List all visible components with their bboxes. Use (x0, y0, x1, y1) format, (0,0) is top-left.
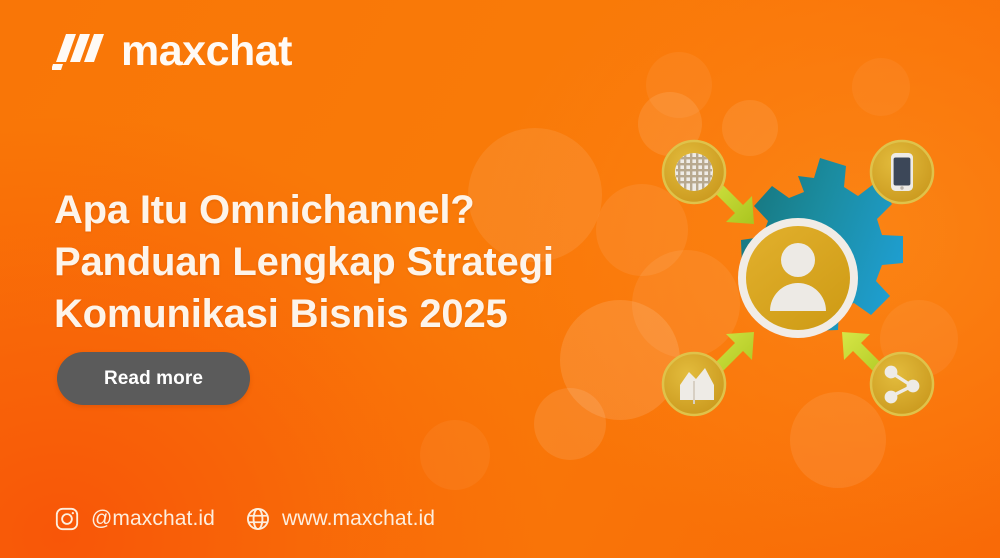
brand-logo[interactable]: maxchat (52, 28, 292, 74)
smartphone-icon (871, 141, 933, 203)
headline-line-3: Komunikasi Bisnis 2025 (54, 288, 614, 340)
website-url: www.maxchat.id (282, 507, 435, 531)
maxchat-m-mark-icon (52, 28, 112, 74)
bokeh-circle (420, 420, 490, 490)
instagram-icon (54, 506, 80, 532)
footer-contacts: @maxchat.id www.maxchat.id (54, 506, 435, 532)
instagram-link[interactable]: @maxchat.id (54, 506, 215, 532)
microphone-grille-icon (663, 141, 725, 203)
bokeh-circle (646, 52, 712, 118)
share-network-icon (871, 353, 933, 415)
omnichannel-illustration (648, 128, 948, 428)
store-home-icon (663, 353, 725, 415)
page-title: Apa Itu Omnichannel? Panduan Lengkap Str… (54, 184, 614, 340)
headline-line-2: Panduan Lengkap Strategi (54, 236, 614, 288)
promo-banner: maxchat Apa Itu Omnichannel? Panduan Len… (0, 0, 1000, 558)
brand-name: maxchat (121, 30, 292, 73)
globe-icon (245, 506, 271, 532)
instagram-handle: @maxchat.id (91, 507, 215, 531)
website-link[interactable]: www.maxchat.id (245, 506, 435, 532)
bokeh-circle (852, 58, 910, 116)
read-more-button[interactable]: Read more (57, 352, 250, 405)
bokeh-circle (534, 388, 606, 460)
headline-line-1: Apa Itu Omnichannel? (54, 184, 614, 236)
